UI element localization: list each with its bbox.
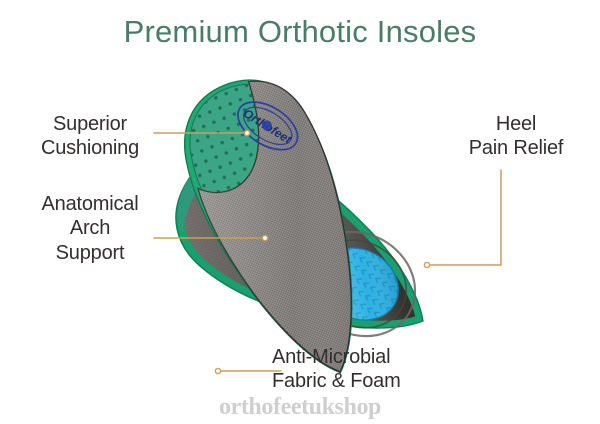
callout-label-anti-microbial-fabric-foam: Anti-Microbial Fabric & Foam — [272, 345, 532, 394]
leader-dot-arch — [262, 235, 267, 240]
leader-dot-fabric — [215, 368, 220, 373]
leader-dot-cushioning — [244, 130, 249, 135]
callout-label-anatomical-arch-support: Anatomical Arch Support — [4, 192, 176, 265]
callout-label-superior-cushioning: Superior Cushioning — [4, 112, 176, 161]
leader-line-heel — [427, 170, 501, 265]
watermark: orthofeetukshop — [0, 394, 600, 421]
callout-label-heel-pain-relief: Heel Pain Relief — [434, 112, 598, 161]
leader-dot-heel — [424, 262, 429, 267]
infographic-canvas: Premium Orthotic Insoles — [0, 0, 600, 424]
